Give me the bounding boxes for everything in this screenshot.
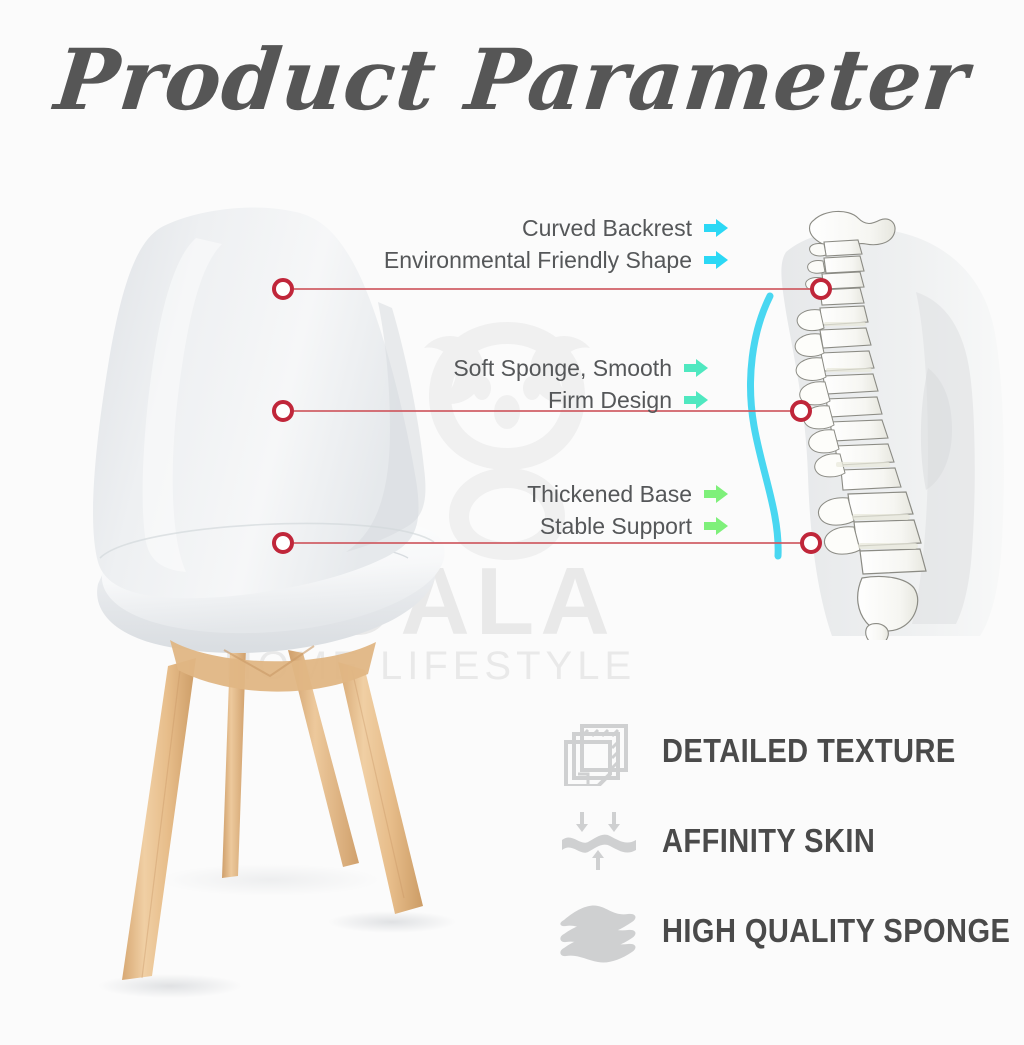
marker-thickened-base-spine[interactable] <box>800 532 822 554</box>
wavy-pressure-icon <box>556 806 640 876</box>
marker-curved-backrest-spine[interactable] <box>810 278 832 300</box>
arrow-right-icon <box>702 515 730 537</box>
product-chair-image <box>20 180 490 1040</box>
callout-soft-sponge: Soft Sponge, Smooth Firm Design <box>330 352 710 416</box>
callout-line-1: Thickened Base <box>400 478 730 510</box>
arrow-right-icon <box>702 483 730 505</box>
callout-line-2: Stable Support <box>400 510 730 542</box>
callout-line-2: Environmental Friendly Shape <box>300 244 730 276</box>
stacked-sponge-icon <box>556 896 640 966</box>
callout-text-line: Curved Backrest <box>522 212 692 244</box>
callout-line-2: Firm Design <box>330 384 710 416</box>
arrow-right-icon <box>702 217 730 239</box>
marker-curved-backrest-product[interactable] <box>272 278 294 300</box>
feature-detailed-texture: DETAILED TEXTURE <box>556 706 976 796</box>
callout-text-line: Environmental Friendly Shape <box>384 244 692 276</box>
stacked-sheets-icon <box>556 716 640 786</box>
feature-list: DETAILED TEXTURE AFFINITY SKIN <box>556 706 976 976</box>
infographic-canvas: Product Parameter KOALA HOME LIFESTYLE <box>0 0 1024 1024</box>
callout-thickened-base: Thickened Base Stable Support <box>400 478 730 542</box>
callout-line-1: Soft Sponge, Smooth <box>330 352 710 384</box>
arrow-right-icon <box>682 357 710 379</box>
arrow-right-icon <box>682 389 710 411</box>
feature-label: AFFINITY SKIN <box>662 822 875 860</box>
callout-line-curved-backrest <box>294 288 820 290</box>
marker-thickened-base-product[interactable] <box>272 532 294 554</box>
callout-text-line: Stable Support <box>540 510 692 542</box>
feature-label: DETAILED TEXTURE <box>662 732 956 770</box>
callout-text-line: Firm Design <box>548 384 672 416</box>
marker-soft-sponge-spine[interactable] <box>790 400 812 422</box>
feature-affinity-skin: AFFINITY SKIN <box>556 796 976 886</box>
arrow-right-icon <box>702 249 730 271</box>
marker-soft-sponge-product[interactable] <box>272 400 294 422</box>
callout-line-1: Curved Backrest <box>300 212 730 244</box>
callout-text-line: Soft Sponge, Smooth <box>453 352 672 384</box>
page-title: Product Parameter <box>0 38 1024 122</box>
callout-text-line: Thickened Base <box>527 478 692 510</box>
callout-curved-backrest: Curved Backrest Environmental Friendly S… <box>300 212 730 276</box>
spine-posture-diagram <box>740 200 1024 640</box>
feature-high-quality-sponge: HIGH QUALITY SPONGE <box>556 886 976 976</box>
feature-label: HIGH QUALITY SPONGE <box>662 912 1010 950</box>
callout-line-thickened-base <box>294 542 810 544</box>
